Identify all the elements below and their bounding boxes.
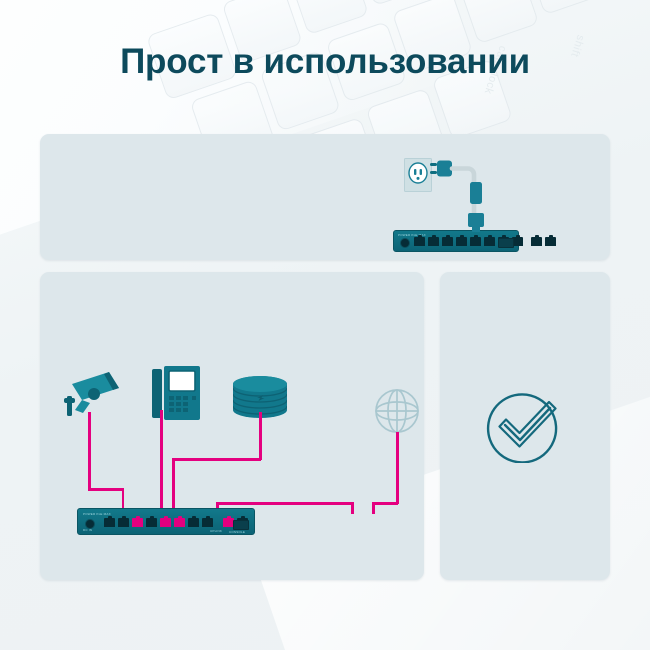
switch-port-3 <box>132 518 143 527</box>
switch-port-1 <box>104 518 115 527</box>
switch-port-5 <box>160 518 171 527</box>
cable-ip-phone <box>160 410 163 512</box>
cable-access-point-seg-h <box>172 458 261 461</box>
cable-ip-camera-seg-down <box>88 439 91 490</box>
switch-port-7 <box>188 518 199 527</box>
power-outlet-icon <box>404 158 432 192</box>
cable-access-point-seg-to-port <box>172 458 175 512</box>
cable-internet-seg-h <box>372 502 398 505</box>
switch-port <box>456 237 467 246</box>
page-title: Прост в использовании <box>0 42 650 82</box>
switch-dc-jack <box>400 238 410 248</box>
switch-port-2 <box>118 518 129 527</box>
switch-port <box>470 237 481 246</box>
switch-silkscreen-dc: DC IN <box>83 528 92 532</box>
switch-port <box>484 237 495 246</box>
switch-port <box>442 237 453 246</box>
switch-silkscreen-console: CONSOLE <box>229 530 245 534</box>
switch-silkscreen-power: POWER PoE MAX <box>83 512 111 516</box>
power-plug-icon <box>430 160 500 232</box>
keycap <box>458 0 539 44</box>
switch-console-port <box>498 238 514 248</box>
power-adapter-icon <box>470 182 482 204</box>
keycap <box>524 0 605 15</box>
switch-port-uplink <box>531 237 542 246</box>
dc-connector-icon <box>468 213 484 227</box>
check-circle-icon <box>486 385 564 463</box>
switch-console-port <box>233 520 249 530</box>
switch-port-4 <box>146 518 157 527</box>
network-switch-main: POWER PoE MAX DC IN UPLINK CONSOLE <box>77 508 255 535</box>
switch-port <box>414 237 425 246</box>
network-switch-top: POWER PoE MAX <box>393 230 519 252</box>
switch-port-row <box>414 237 559 246</box>
switch-port-8 <box>202 518 213 527</box>
cable-internet-seg-to-port <box>372 502 375 514</box>
switch-port-uplink <box>545 237 556 246</box>
cable-internet-seg-v <box>396 432 399 504</box>
globe-icon <box>374 388 420 434</box>
switch-port <box>428 237 439 246</box>
switch-silkscreen-uplink: UPLINK <box>210 529 222 533</box>
cable-ip-camera-seg-up <box>88 412 91 439</box>
cable-access-point-seg-v <box>259 412 262 460</box>
dc-connector-tip-icon <box>472 226 480 232</box>
cable-uplink-seg-h <box>216 502 353 505</box>
switch-port-row <box>104 518 251 527</box>
ip-camera-icon <box>63 368 123 420</box>
switch-port-6 <box>174 518 185 527</box>
cable-ip-camera-seg-h <box>88 488 124 491</box>
